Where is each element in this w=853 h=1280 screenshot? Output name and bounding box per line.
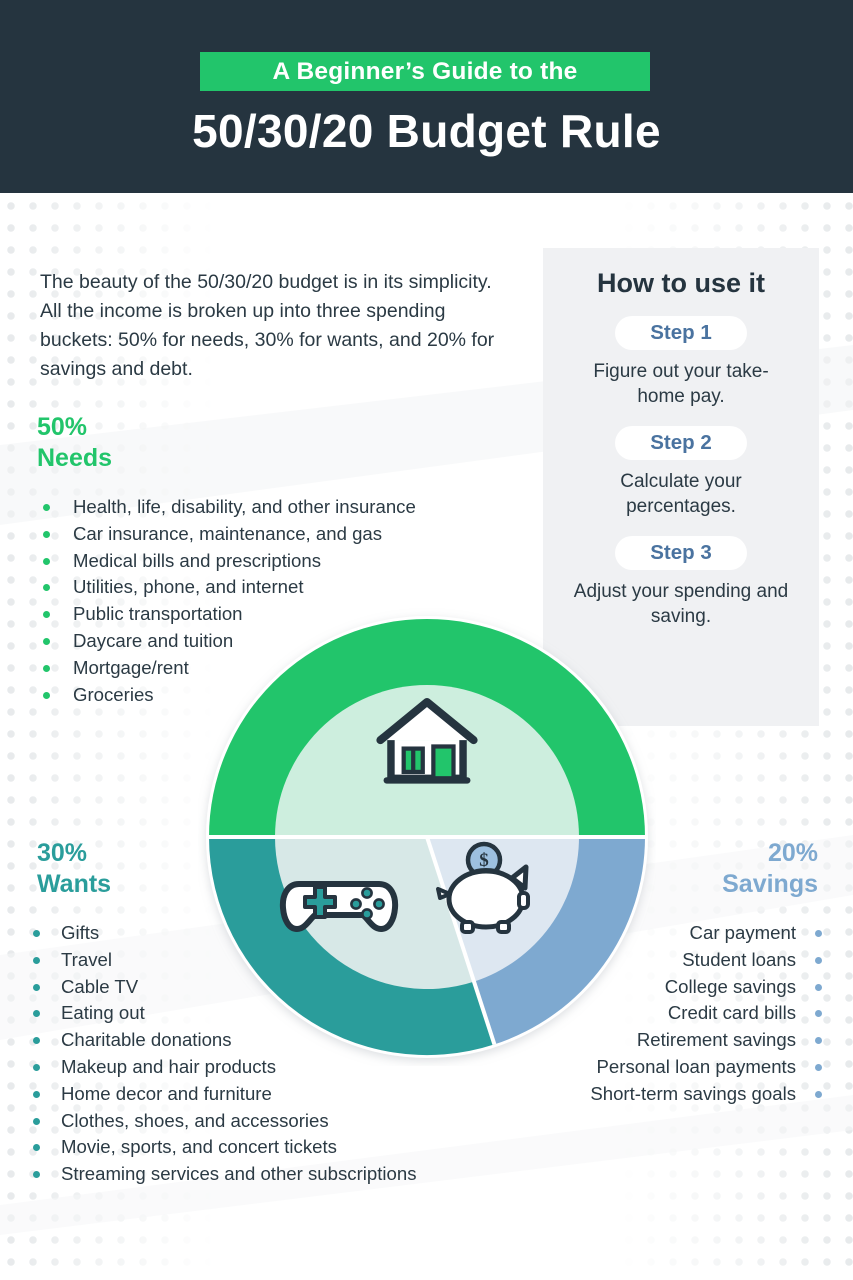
step-2-badge: Step 2 — [615, 426, 747, 460]
list-item: Home decor and furniture — [31, 1081, 417, 1108]
steps-panel-title: How to use it — [543, 268, 819, 299]
needs-percent: 50% — [37, 412, 112, 443]
list-item: Short-term savings goals — [590, 1081, 826, 1108]
savings-percent: 20% — [722, 838, 818, 869]
list-item: Car insurance, maintenance, and gas — [41, 521, 416, 548]
intro-paragraph: The beauty of the 50/30/20 budget is in … — [40, 268, 510, 384]
step-3-badge: Step 3 — [615, 536, 747, 570]
list-item: Utilities, phone, and internet — [41, 574, 416, 601]
page-title: 50/30/20 Budget Rule — [0, 104, 853, 158]
savings-label: Savings — [722, 869, 818, 900]
step-2-description: Calculate your percentages. — [574, 469, 789, 519]
step-1-badge: Step 1 — [615, 316, 747, 350]
needs-label: Needs — [37, 443, 112, 474]
subtitle-text: A Beginner’s Guide to the — [273, 58, 578, 86]
wants-label: Wants — [37, 869, 111, 900]
list-item: Streaming services and other subscriptio… — [31, 1161, 417, 1188]
list-item: Movie, sports, and concert tickets — [31, 1134, 417, 1161]
svg-text:$: $ — [479, 850, 489, 871]
step-1-description: Figure out your take-home pay. — [574, 359, 789, 409]
wants-percent: 30% — [37, 838, 111, 869]
list-item: Clothes, shoes, and accessories — [31, 1108, 417, 1135]
subtitle-badge: A Beginner’s Guide to the — [200, 52, 650, 91]
wants-heading: 30% Wants — [37, 838, 111, 900]
budget-pie-chart: $ — [198, 608, 656, 1066]
page-header: A Beginner’s Guide to the 50/30/20 Budge… — [0, 0, 853, 193]
list-item: Medical bills and prescriptions — [41, 548, 416, 575]
list-item: Health, life, disability, and other insu… — [41, 494, 416, 521]
needs-heading: 50% Needs — [37, 412, 112, 474]
savings-heading: 20% Savings — [722, 838, 818, 900]
